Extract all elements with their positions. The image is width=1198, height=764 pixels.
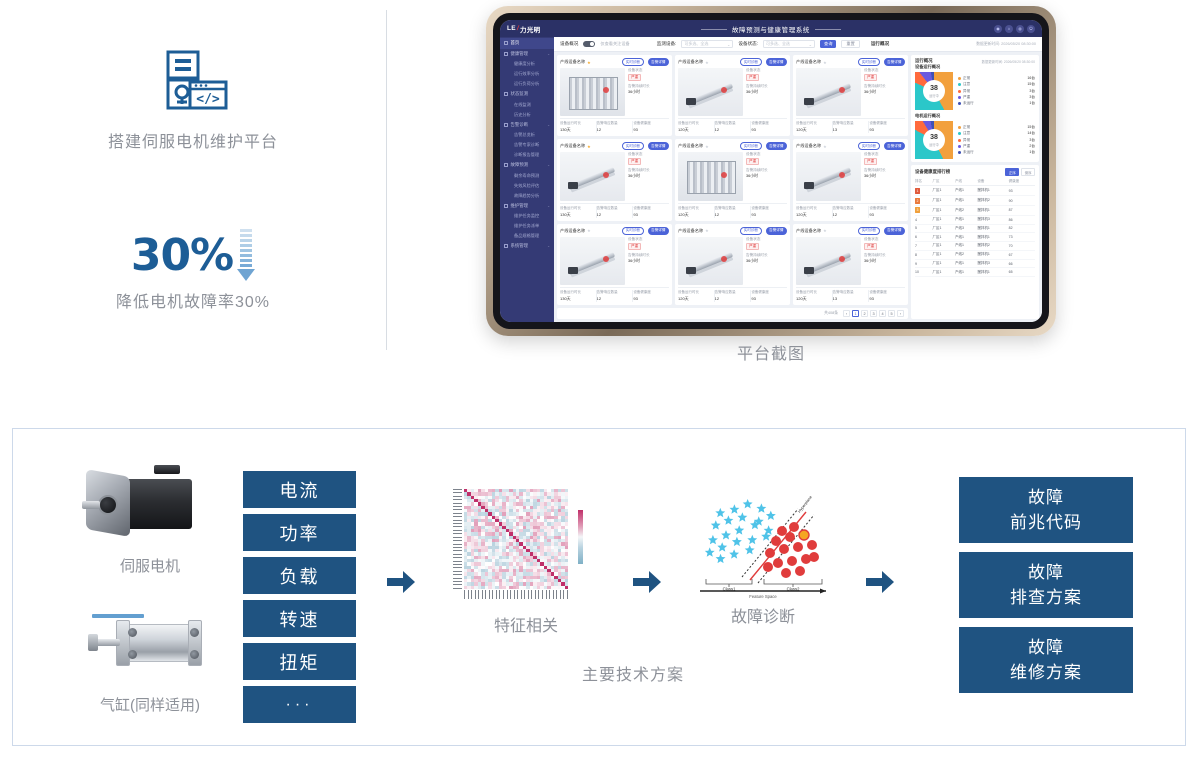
- sidebar-subitem-15[interactable]: 故障趋势分析: [500, 191, 554, 201]
- device-metric-label: 设备运行时长: [678, 121, 713, 126]
- favorite-star-icon[interactable]: ★: [705, 228, 709, 233]
- legend-dot-icon: [958, 90, 961, 93]
- device-metric: 告警响应数量 12: [715, 290, 752, 302]
- signal-box: 转速: [243, 600, 356, 637]
- medal-icon: 2: [915, 198, 920, 204]
- ranking-title: 设备健康度排行榜: [915, 169, 950, 175]
- tablet-caption: 平台截图: [486, 340, 1056, 364]
- device-status-badge: 严重: [864, 158, 877, 165]
- equipment-column: 伺服电机 气缸(同样适用): [75, 459, 225, 715]
- medal-icon: 3: [915, 207, 920, 213]
- status-filter-label: 设备状态:: [738, 41, 758, 47]
- alarm-duration-label: 告警持续时长: [864, 253, 905, 258]
- device-metric: 告警响应数量 13: [833, 121, 870, 133]
- down-arrow-icon: [237, 229, 255, 281]
- legend-label: 未运行: [963, 150, 979, 155]
- device-cell: 搅拌机3: [977, 259, 1008, 268]
- device-card[interactable]: 产线设备名称 ★ 实时诊断 告警详情 设备状态 严重 告警持续时长 36小时 设…: [793, 55, 908, 136]
- device-metric-value: 12: [715, 212, 750, 217]
- power-icon[interactable]: ⏻: [1027, 25, 1035, 33]
- legend-row: 正常 15台: [958, 125, 1035, 130]
- device-metric-label: 告警响应数量: [833, 121, 868, 126]
- device-metric-value: 12: [597, 127, 632, 132]
- realtime-diagnosis-button[interactable]: 实时诊断: [858, 142, 879, 150]
- feature-correlation-stage: 特征相关: [431, 484, 621, 636]
- table-row[interactable]: 4 厂区1 产线1 搅拌机3 86: [915, 215, 1035, 224]
- signal-box: 电流: [243, 471, 356, 508]
- table-row[interactable]: 8 厂区1 产线2 搅拌机1 67: [915, 250, 1035, 259]
- device-metric-label: 设备运行时长: [560, 121, 595, 126]
- device-card[interactable]: 产线设备名称 ★ 实时诊断 告警详情 设备状态 严重 告警持续时长 36小时 设…: [557, 139, 672, 220]
- device-metric-value: 12: [597, 296, 632, 301]
- donut-center-label: 运行中: [929, 142, 939, 147]
- device-image: [796, 68, 861, 116]
- right-arrow-icon: [866, 571, 894, 593]
- device-metric-label: 告警响应数量: [833, 206, 868, 211]
- device-status-badge: 严重: [746, 158, 759, 165]
- table-row[interactable]: 10 厂区1 产线1 搅拌机1 65: [915, 268, 1035, 277]
- device-status-label: 设备状态: [628, 152, 669, 157]
- rank-cell: 3: [915, 205, 933, 215]
- realtime-diagnosis-button[interactable]: 实时诊断: [740, 58, 761, 66]
- sidebar-subitem-18[interactable]: 维护任务派单: [500, 221, 554, 231]
- legend-row: 严重 3台: [958, 95, 1035, 100]
- table-row[interactable]: 9 厂区1 产线1 搅拌机3 66: [915, 259, 1035, 268]
- sidebar-subitem-19[interactable]: 备品规格管理: [500, 231, 554, 241]
- device-metric-label: 设备运行时长: [678, 290, 713, 295]
- kpi-rate-number: 30%: [131, 230, 233, 281]
- legend-row: 异常 3台: [958, 138, 1035, 143]
- app-title: 故障预测与健康管理系统: [500, 24, 1042, 34]
- pagination-prev[interactable]: ‹: [843, 310, 850, 317]
- device-metric-value: 130天: [560, 127, 595, 133]
- alarm-detail-button[interactable]: 告警详情: [766, 58, 787, 66]
- sidebar-subitem-7[interactable]: 历史分析: [500, 110, 554, 120]
- device-card[interactable]: 产线设备名称 ★ 实时诊断 告警详情 设备状态 严重 告警持续时长 36小时 设…: [675, 224, 790, 305]
- flow-diagram: 伺服电机 气缸(同样适用) 电流功率负载转速扭矩···: [13, 429, 1185, 745]
- legend-dot-icon: [958, 151, 961, 154]
- sidebar-item-0[interactable]: 首页: [500, 38, 554, 49]
- health-cell: 65: [1009, 268, 1035, 277]
- device-metric-label: 告警响应数量: [597, 121, 632, 126]
- filter-toolbar[interactable]: 设备概况 仅查看关注设备 监测设备: 可多选、全选 ⌄ 设备状态:: [554, 37, 1042, 52]
- device-metric-value: 120天: [796, 296, 831, 302]
- health-cell: 90: [1009, 196, 1035, 206]
- pneumatic-cylinder-image: [80, 598, 220, 688]
- main-content: 设备概况 仅查看关注设备 监测设备: 可多选、全选 ⌄ 设备状态:: [554, 37, 1042, 322]
- line-cell: 产线1: [955, 233, 977, 242]
- pagination-next[interactable]: ›: [897, 310, 904, 317]
- legend-dot-icon: [958, 102, 961, 105]
- device-card[interactable]: 产线设备名称 ★ 实时诊断 告警详情 设备状态 严重 告警持续时长 36小时 设…: [793, 224, 908, 305]
- sidebar-subitem-17[interactable]: 维护任务监控: [500, 211, 554, 221]
- sidebar-item-8[interactable]: 告警诊断⌄: [500, 120, 554, 131]
- legend-dot-icon: [958, 139, 961, 142]
- heatmap-x-ticks: [464, 590, 568, 600]
- ranking-column-header: 健康度: [1009, 178, 1035, 186]
- ranking-column-header: 厂区: [933, 178, 955, 186]
- panes: 产线设备名称 ★ 实时诊断 告警详情 设备状态 严重 告警持续时长 36小时 设…: [554, 52, 1042, 322]
- alarm-duration-value: 36小时: [864, 259, 905, 264]
- line-cell: 产线1: [955, 242, 977, 251]
- device-cell: 搅拌机1: [977, 268, 1008, 277]
- device-metric: 告警响应数量 12: [597, 121, 634, 133]
- legend-row: 未运行 1台: [958, 101, 1035, 106]
- device-metric-label: 设备运行时长: [796, 206, 831, 211]
- device-metric-label: 设备健康度: [751, 206, 786, 211]
- device-cell: 搅拌机1: [977, 186, 1008, 196]
- alarm-duration-value: 36小时: [746, 174, 787, 179]
- device-metric: 设备运行时长 120天: [796, 206, 833, 218]
- status-filter-select[interactable]: 可多选、全选 ⌄: [763, 40, 815, 48]
- favorite-star-icon[interactable]: ★: [587, 60, 591, 65]
- donut-title: 电机运行概况: [915, 113, 1035, 119]
- device-metric-value: 93: [869, 296, 904, 301]
- device-metric-value: 93: [751, 127, 786, 132]
- diagnosis-caption: 故障诊断: [688, 603, 838, 627]
- svg-text:</>: </>: [196, 92, 220, 107]
- legend-label: 异常: [963, 138, 979, 143]
- analytics-pane: 运行概况 数据更新时间: 2026/05/20 08:30:00 设备运行概况 …: [911, 55, 1039, 319]
- device-status-badge: 严重: [628, 243, 641, 250]
- device-status-badge: 严重: [746, 243, 759, 250]
- device-image: [678, 237, 743, 285]
- output-box: 故障 前兆代码: [959, 477, 1133, 543]
- device-metric-value: 120天: [678, 127, 713, 133]
- pagination-page[interactable]: 1: [852, 310, 859, 317]
- run-overview-card: 运行概况 数据更新时间: 2026/05/20 08:30:00 设备运行概况 …: [911, 55, 1039, 162]
- sidebar-item-label: 健康管理: [511, 51, 529, 57]
- legend-row: 严重 2台: [958, 144, 1035, 149]
- device-metric: 设备健康度 93: [751, 290, 787, 302]
- legend-value: 3台: [1029, 95, 1035, 100]
- code-window-icon: </>: [156, 50, 230, 114]
- device-metric-value: 93: [633, 212, 668, 217]
- alarm-indicator-icon: [839, 172, 845, 178]
- device-filter-select[interactable]: 可多选、全选 ⌄: [681, 40, 733, 48]
- realtime-diagnosis-button[interactable]: 实时诊断: [740, 227, 761, 235]
- output-line1: 故障: [1028, 485, 1064, 511]
- health-cell: 70: [1009, 242, 1035, 251]
- realtime-diagnosis-button[interactable]: 实时诊断: [740, 142, 761, 150]
- device-status-badge: 严重: [864, 243, 877, 250]
- legend-label: 正常: [963, 76, 979, 81]
- alarm-detail-button[interactable]: 告警详情: [648, 142, 669, 150]
- area-cell: 厂区1: [933, 205, 955, 215]
- ranking-column-header: 设备: [977, 178, 1008, 186]
- monitor-icon: [504, 92, 508, 96]
- alarm-detail-button[interactable]: 告警详情: [766, 227, 787, 235]
- line-cell: 产线1: [955, 268, 977, 277]
- user-icon[interactable]: ◉: [994, 25, 1002, 33]
- line-cell: 产线2: [955, 250, 977, 259]
- alarm-indicator-icon: [603, 87, 609, 93]
- alarm-detail-button[interactable]: 告警详情: [648, 58, 669, 66]
- sidebar-item-1[interactable]: 健康管理⌄: [500, 49, 554, 60]
- sidebar-subitem-2[interactable]: 健康度分析: [500, 59, 554, 69]
- legend-value: 3台: [1029, 89, 1035, 94]
- pagination[interactable]: 共408条 ‹12345›: [557, 308, 908, 319]
- legend-row: 注意 15台: [958, 82, 1035, 87]
- legend-dot-icon: [958, 132, 961, 135]
- device-metric: 设备运行时长 130天: [560, 206, 597, 218]
- sidebar-subitem-13[interactable]: 剩余寿命预测: [500, 171, 554, 181]
- device-metric-value: 120天: [678, 212, 713, 218]
- device-metric-label: 设备运行时长: [560, 290, 595, 295]
- device-card-name: 产线设备名称: [560, 143, 585, 149]
- heart-icon: [504, 52, 508, 56]
- sidebar-subitem-10[interactable]: 告警专家诊断: [500, 140, 554, 150]
- device-metric-label: 告警响应数量: [597, 206, 632, 211]
- device-metric-value: 12: [715, 296, 750, 301]
- donut-chart: 38 运行中: [915, 121, 953, 159]
- device-cell: 搅拌机1: [977, 224, 1008, 233]
- device-metric: 设备健康度 93: [633, 121, 669, 133]
- table-row[interactable]: 7 厂区1 产线1 搅拌机2 70: [915, 242, 1035, 251]
- kpi-rate-caption: 降低电机故障率30%: [0, 288, 386, 312]
- table-row[interactable]: 3 厂区1 产线2 搅拌机1 87: [915, 205, 1035, 215]
- device-metric-value: 13: [833, 127, 868, 132]
- device-metric: 设备健康度 93: [751, 206, 787, 218]
- device-card-name: 产线设备名称: [678, 228, 703, 234]
- output-box: 故障 维修方案: [959, 627, 1133, 693]
- rank-cell: 10: [915, 268, 933, 277]
- sidebar-subitem-6[interactable]: 在线监测: [500, 100, 554, 110]
- pagination-page[interactable]: 4: [879, 310, 886, 317]
- device-metric-label: 告警响应数量: [715, 206, 750, 211]
- right-arrow-icon: [633, 571, 661, 593]
- device-metric: 设备健康度 93: [633, 290, 669, 302]
- device-metric-label: 设备运行时长: [796, 290, 831, 295]
- sidebar-item-label: 系统管理: [511, 243, 529, 249]
- device-metric-label: 设备健康度: [633, 206, 668, 211]
- signal-box: 功率: [243, 514, 356, 551]
- ranking-tab[interactable]: 倒序: [1021, 168, 1035, 176]
- pagination-page[interactable]: 3: [870, 310, 877, 317]
- legend-dot-icon: [958, 126, 961, 129]
- device-metric-value: 120天: [796, 212, 831, 218]
- device-status-label: 设备状态: [746, 237, 787, 242]
- device-metric: 告警响应数量 12: [715, 121, 752, 133]
- technical-solution-panel: 伺服电机 气缸(同样适用) 电流功率负载转速扭矩···: [12, 428, 1186, 746]
- line-cell: 产线3: [955, 224, 977, 233]
- legend-dot-icon: [958, 145, 961, 148]
- line-cell: 产线1: [955, 196, 977, 206]
- output-line2: 前兆代码: [1010, 510, 1082, 536]
- donut-center-value: 38: [930, 85, 938, 92]
- health-cell: 66: [1009, 259, 1035, 268]
- alarm-duration-label: 告警持续时长: [628, 84, 669, 89]
- chevron-down-icon: ⌄: [547, 123, 550, 127]
- app-body: 首页健康管理⌄健康度分析运行效率分析运行负荷分析状态监测在线监测历史分析告警诊断…: [500, 37, 1042, 322]
- rank-cell: 6: [915, 233, 933, 242]
- realtime-diagnosis-button[interactable]: 实时诊断: [622, 58, 643, 66]
- alarm-duration-value: 36小时: [864, 174, 905, 179]
- device-card-name: 产线设备名称: [796, 228, 821, 234]
- device-status-label: 设备状态: [628, 68, 669, 73]
- table-row[interactable]: 5 厂区1 产线3 搅拌机1 82: [915, 224, 1035, 233]
- alarm-indicator-icon: [839, 256, 845, 262]
- favorite-star-icon[interactable]: ★: [823, 144, 827, 149]
- rank-cell: 5: [915, 224, 933, 233]
- device-status-badge: 严重: [864, 74, 877, 81]
- equipment-caption-cylinder: 气缸(同样适用): [75, 694, 225, 715]
- sidebar-item-16[interactable]: 维护管理⌄: [500, 201, 554, 212]
- alarm-duration-label: 告警持续时长: [746, 168, 787, 173]
- analytics-update-time: 数据更新时间: 2026/05/20 08:30:00: [982, 59, 1035, 64]
- favorite-star-icon[interactable]: ★: [705, 60, 709, 65]
- alarm-detail-button[interactable]: 告警详情: [884, 227, 905, 235]
- device-card-name: 产线设备名称: [678, 143, 703, 149]
- area-cell: 厂区1: [933, 250, 955, 259]
- sidebar-item-12[interactable]: 故障预测⌄: [500, 160, 554, 171]
- output-line1: 故障: [1028, 635, 1064, 661]
- home-icon: [504, 41, 508, 45]
- search-button[interactable]: 查询: [820, 40, 836, 48]
- area-cell: 厂区1: [933, 233, 955, 242]
- tablet-device: LE / 力光明 故障预测与健康管理系统 ◉ ⌂ ◍ ⏻: [486, 6, 1056, 336]
- alarm-indicator-icon: [721, 256, 727, 262]
- legend-dot-icon: [958, 77, 961, 80]
- logo-right: 力光明: [520, 24, 540, 34]
- device-metric-label: 设备运行时长: [560, 206, 595, 211]
- ranking-tab[interactable]: 正序: [1005, 168, 1019, 176]
- realtime-diagnosis-button[interactable]: 实时诊断: [858, 227, 879, 235]
- sidebar-subitem-9[interactable]: 告警总览析: [500, 130, 554, 140]
- donut-center-label: 运行中: [929, 93, 939, 98]
- sidebar-item-20[interactable]: 系统管理⌄: [500, 241, 554, 252]
- device-metric: 告警响应数量 12: [833, 206, 870, 218]
- signal-list: 电流功率负载转速扭矩···: [243, 471, 356, 729]
- servo-motor-image: [80, 459, 220, 549]
- realtime-diagnosis-button[interactable]: 实时诊断: [622, 227, 643, 235]
- device-status-label: 设备状态: [746, 152, 787, 157]
- favorites-toggle[interactable]: [583, 41, 595, 47]
- sidebar-subitem-14[interactable]: 失效风险评估: [500, 181, 554, 191]
- device-metric-label: 设备健康度: [869, 290, 904, 295]
- device-metric-label: 设备健康度: [751, 121, 786, 126]
- output-list: 故障 前兆代码 故障 排查方案 故障 维修方案: [959, 477, 1133, 702]
- donut-title: 设备运行概况: [915, 64, 1035, 70]
- svm-classification-plot: Class1Class2Feature SpaceHyperplane: [698, 491, 828, 599]
- platform-screenshot: LE / 力光明 故障预测与健康管理系统 ◉ ⌂ ◍ ⏻: [500, 20, 1042, 322]
- pagination-page[interactable]: 2: [861, 310, 868, 317]
- device-metric: 设备健康度 93: [869, 290, 905, 302]
- area-cell: 厂区1: [933, 268, 955, 277]
- area-cell: 厂区1: [933, 196, 955, 206]
- chevron-down-icon: ⌄: [809, 42, 812, 47]
- area-cell: 厂区1: [933, 186, 955, 196]
- chevron-down-icon: ⌄: [727, 42, 730, 47]
- health-cell: 67: [1009, 250, 1035, 259]
- device-metric-value: 13: [833, 296, 868, 301]
- ranking-card: 设备健康度排行榜 正序倒序 排名厂区产线设备健康度 1 厂区1 产线1 搅拌机1…: [911, 165, 1039, 319]
- reset-button[interactable]: 重置: [841, 40, 859, 48]
- ranking-tabs[interactable]: 正序倒序: [1005, 168, 1035, 176]
- output-line2: 排查方案: [1010, 585, 1082, 611]
- sidebar-item-label: 故障预测: [511, 162, 529, 168]
- sidebar-subitem-4[interactable]: 运行负荷分析: [500, 79, 554, 89]
- equipment-item-cylinder: 气缸(同样适用): [75, 598, 225, 715]
- alarm-detail-button[interactable]: 告警详情: [648, 227, 669, 235]
- device-card[interactable]: 产线设备名称 ★ 实时诊断 告警详情 设备状态 严重 告警持续时长 36小时 设…: [675, 55, 790, 136]
- realtime-diagnosis-button[interactable]: 实时诊断: [622, 142, 643, 150]
- device-metric-label: 设备运行时长: [796, 121, 831, 126]
- legend-dot-icon: [958, 83, 961, 86]
- favorite-star-icon[interactable]: ★: [587, 144, 591, 149]
- device-status-badge: 严重: [628, 74, 641, 81]
- rank-cell: 1: [915, 186, 933, 196]
- device-metric-value: 12: [833, 212, 868, 217]
- home-icon[interactable]: ⌂: [1005, 25, 1013, 33]
- alarm-duration-value: 36小时: [628, 174, 669, 179]
- alarm-detail-button[interactable]: 告警详情: [884, 142, 905, 150]
- device-metric-label: 告警响应数量: [715, 290, 750, 295]
- tablet-frame: LE / 力光明 故障预测与健康管理系统 ◉ ⌂ ◍ ⏻: [486, 6, 1056, 336]
- chevron-down-icon: ⌄: [547, 52, 550, 56]
- favorite-star-icon[interactable]: ★: [705, 144, 709, 149]
- alarm-duration-value: 36小时: [864, 90, 905, 95]
- medal-icon: 1: [915, 188, 920, 194]
- device-metric: 告警响应数量 13: [833, 290, 870, 302]
- legend-value: 1台: [1029, 101, 1035, 106]
- device-card[interactable]: 产线设备名称 ★ 实时诊断 告警详情 设备状态 严重 告警持续时长 36小时 设…: [557, 224, 672, 305]
- device-metric-value: 120天: [678, 296, 713, 302]
- sidebar-subitem-3[interactable]: 运行效率分析: [500, 69, 554, 79]
- tablet-bezel: LE / 力光明 故障预测与健康管理系统 ◉ ⌂ ◍ ⏻: [493, 13, 1049, 329]
- favorite-star-icon[interactable]: ★: [587, 228, 591, 233]
- device-card-name: 产线设备名称: [678, 59, 703, 65]
- device-metric-label: 设备健康度: [751, 290, 786, 295]
- favorite-star-icon[interactable]: ★: [823, 228, 827, 233]
- device-metric: 设备健康度 93: [869, 206, 905, 218]
- table-row[interactable]: 6 厂区1 产线1 搅拌机1 73: [915, 233, 1035, 242]
- pagination-total: 共408条: [824, 311, 838, 316]
- alarm-detail-button[interactable]: 告警详情: [766, 142, 787, 150]
- chevron-down-icon: ⌄: [547, 204, 550, 208]
- alarm-detail-button[interactable]: 告警详情: [884, 58, 905, 66]
- alarm-duration-label: 告警持续时长: [864, 168, 905, 173]
- gear-icon: [504, 244, 508, 248]
- device-metric-value: 93: [869, 127, 904, 132]
- device-image: [796, 152, 861, 200]
- sidebar-subitem-11[interactable]: 诊断报告管理: [500, 150, 554, 160]
- table-row[interactable]: 2 厂区1 产线1 搅拌机2 90: [915, 196, 1035, 206]
- device-card-name: 产线设备名称: [796, 59, 821, 65]
- legend-row: 异常 3台: [958, 89, 1035, 94]
- device-image: [678, 68, 743, 116]
- pagination-page[interactable]: 5: [888, 310, 895, 317]
- output-line1: 故障: [1028, 560, 1064, 586]
- favorite-star-icon[interactable]: ★: [823, 60, 827, 65]
- device-image: [678, 152, 743, 200]
- device-metric-value: 93: [633, 127, 668, 132]
- device-card[interactable]: 产线设备名称 ★ 实时诊断 告警详情 设备状态 严重 告警持续时长 36小时 设…: [793, 139, 908, 220]
- alarm-duration-value: 36小时: [628, 259, 669, 264]
- legend-value: 15台: [1027, 125, 1035, 130]
- realtime-diagnosis-button[interactable]: 实时诊断: [858, 58, 879, 66]
- device-cell: 搅拌机2: [977, 196, 1008, 206]
- device-card[interactable]: 产线设备名称 ★ 实时诊断 告警详情 设备状态 严重 告警持续时长 36小时 设…: [675, 139, 790, 220]
- sidebar[interactable]: 首页健康管理⌄健康度分析运行效率分析运行负荷分析状态监测在线监测历史分析告警诊断…: [500, 37, 554, 322]
- sidebar-item-5[interactable]: 状态监测: [500, 89, 554, 100]
- table-row[interactable]: 1 厂区1 产线1 搅拌机1 93: [915, 186, 1035, 196]
- device-card[interactable]: 产线设备名称 ★ 实时诊断 告警详情 设备状态 严重 告警持续时长 36小时 设…: [557, 55, 672, 136]
- donut-center-value: 38: [930, 134, 938, 141]
- correlation-heatmap: [453, 484, 599, 600]
- health-cell: 87: [1009, 205, 1035, 215]
- bell-icon[interactable]: ◍: [1016, 25, 1024, 33]
